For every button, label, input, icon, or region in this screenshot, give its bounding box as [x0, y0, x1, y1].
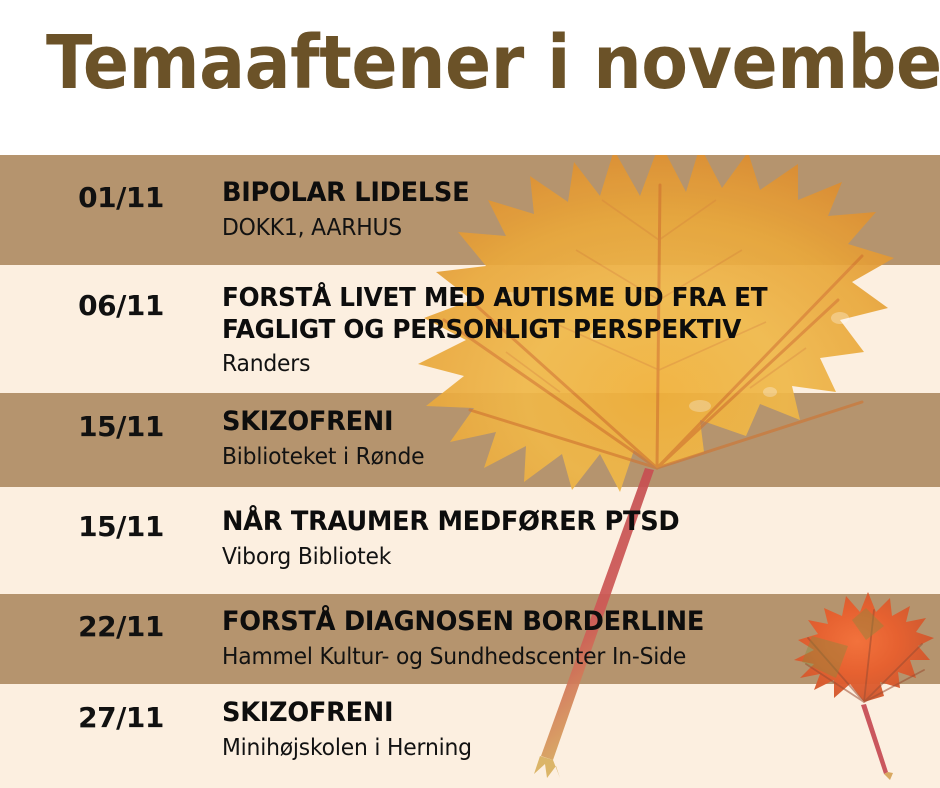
event-body: NÅR TRAUMER MEDFØRER PTSD Viborg Bibliot…	[222, 506, 932, 572]
poster-header: Temaaftener i november	[0, 0, 940, 155]
event-title: SKIZOFRENI	[222, 406, 897, 439]
event-title: NÅR TRAUMER MEDFØRER PTSD	[222, 506, 897, 539]
event-venue: Hammel Kultur- og Sundhedscenter In-Side	[222, 644, 897, 672]
event-date: 01/11	[46, 181, 196, 214]
event-body: BIPOLAR LIDELSE DOKK1, AARHUS	[222, 177, 932, 243]
event-title: FORSTÅ LIVET MED AUTISME UD FRA ET FAGLI…	[222, 283, 897, 346]
event-venue: DOKK1, AARHUS	[222, 215, 897, 243]
event-date: 06/11	[46, 289, 196, 322]
event-body: FORSTÅ DIAGNOSEN BORDERLINE Hammel Kultu…	[222, 606, 932, 672]
event-title: BIPOLAR LIDELSE	[222, 177, 897, 210]
event-date: 15/11	[46, 510, 196, 543]
event-body: SKIZOFRENI Minihøjskolen i Herning	[222, 697, 932, 763]
event-title: SKIZOFRENI	[222, 697, 897, 730]
event-venue: Randers	[222, 351, 897, 379]
event-date: 22/11	[46, 610, 196, 643]
event-venue: Minihøjskolen i Herning	[222, 735, 897, 763]
event-venue: Viborg Bibliotek	[222, 544, 897, 572]
event-body: SKIZOFRENI Biblioteket i Rønde	[222, 406, 932, 472]
event-date: 15/11	[46, 410, 196, 443]
poster-canvas: Temaaftener i november 01/11 BIPOLAR LID…	[0, 0, 940, 788]
event-venue: Biblioteket i Rønde	[222, 444, 897, 472]
page-title: Temaaftener i november	[46, 26, 940, 100]
event-body: FORSTÅ LIVET MED AUTISME UD FRA ET FAGLI…	[222, 283, 932, 379]
event-title: FORSTÅ DIAGNOSEN BORDERLINE	[222, 606, 897, 639]
event-date: 27/11	[46, 701, 196, 734]
